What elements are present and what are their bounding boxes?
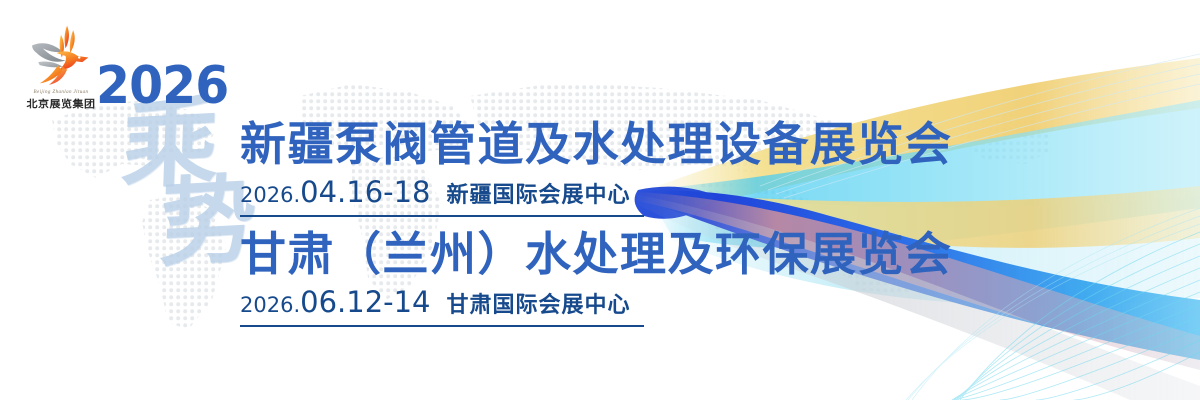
show-1-venue: 新疆国际会展中心 [447,177,631,209]
logo-chinese-text: 北京展览集团 [18,97,104,112]
show-2-dates: 06.12-14 [300,285,430,319]
show-block-2: 甘肃（兰州）水处理及环保展览会 2026. 06.12-14 甘肃国际会展中心 [240,228,953,327]
show-block-1: 新疆泵阀管道及水处理设备展览会 2026. 04.16-18 新疆国际会展中心 [240,118,953,217]
year-label: 2026 [96,56,228,116]
organizer-logo[interactable]: Beijing Zhanlan Jituan 北京展览集团 [18,18,104,118]
show-2-title: 甘肃（兰州）水处理及环保展览会 [240,228,953,281]
show-1-title: 新疆泵阀管道及水处理设备展览会 [240,118,953,171]
show-1-underline [240,215,644,217]
logo-pinyin-text: Beijing Zhanlan Jituan [18,90,104,95]
show-1-year: 2026. [240,183,300,207]
event-banner: 乘 势 [0,0,1200,400]
show-1-subline: 2026. 04.16-18 新疆国际会展中心 [240,175,953,209]
show-2-subline: 2026. 06.12-14 甘肃国际会展中心 [240,285,953,319]
phoenix-logo-icon [23,18,99,94]
show-2-venue: 甘肃国际会展中心 [447,287,631,319]
show-2-year: 2026. [240,293,300,317]
show-1-dates: 04.16-18 [300,175,430,209]
show-2-underline [240,325,644,327]
